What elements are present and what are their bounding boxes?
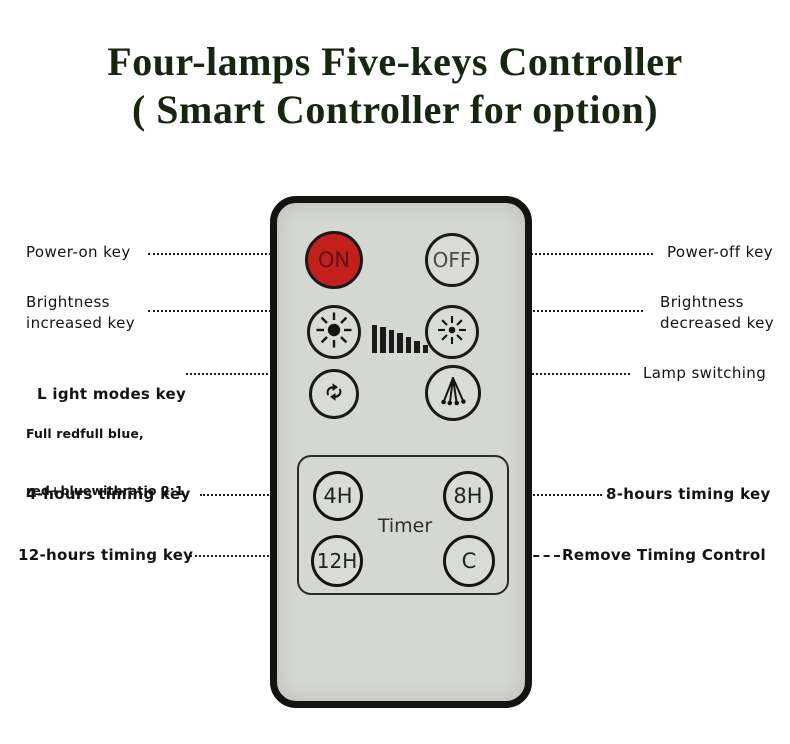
remote-control-body: ON OFF <box>270 196 532 708</box>
callout-line: Brightness <box>660 293 744 311</box>
callout-line: increased key <box>26 314 135 332</box>
signal-bar <box>414 341 419 353</box>
callout-brightness-decreased-key: Brightnessdecreased key <box>660 292 774 334</box>
power-off-label: OFF <box>433 248 472 272</box>
signal-bars-icon <box>372 313 428 353</box>
timer-caption: Timer <box>299 515 511 537</box>
title-line-1: Four-lamps Five-keys Controller <box>0 38 790 86</box>
callout-light-modes-sub-1: Full redfull blue, <box>26 426 186 441</box>
callout-remove-timing-control: Remove Timing Control <box>562 545 766 566</box>
callout-brightness-increased-key: Brightnessincreased key <box>26 292 135 334</box>
callout-4-hours-timing-key: 4-hours timing key <box>26 484 191 505</box>
signal-bar <box>406 337 411 353</box>
page-title: Four-lamps Five-keys Controller ( Smart … <box>0 38 790 134</box>
callout-power-off-key: Power-off key <box>667 242 773 263</box>
brightness-increase-button[interactable] <box>307 305 361 359</box>
callout-lamp-switching: Lamp switching <box>643 363 766 384</box>
signal-bar <box>423 345 428 353</box>
signal-bar <box>380 327 385 353</box>
callout-8-hours-timing-key: 8-hours timing key <box>606 484 771 505</box>
sun-dim-icon <box>434 312 470 352</box>
callout-line: decreased key <box>660 314 774 332</box>
power-off-button[interactable]: OFF <box>425 233 479 287</box>
timer-8h-button[interactable]: 8H <box>443 471 493 521</box>
timer-12h-button[interactable]: 12H <box>311 535 363 587</box>
power-on-button[interactable]: ON <box>305 231 363 289</box>
lamp-rays-icon <box>433 371 473 415</box>
light-modes-button[interactable] <box>309 369 359 419</box>
signal-bar <box>389 330 394 353</box>
lamp-switching-button[interactable] <box>425 365 481 421</box>
callout-light-modes-title: L ight modes key <box>37 385 186 403</box>
timer-4h-button[interactable]: 4H <box>313 471 363 521</box>
timer-clear-button[interactable]: C <box>443 535 495 587</box>
power-on-label: ON <box>318 248 350 272</box>
signal-bar <box>397 333 402 353</box>
brightness-decrease-button[interactable] <box>425 305 479 359</box>
callout-12-hours-timing-key: 12-hours timing key <box>18 545 193 566</box>
timer-panel: 4H 8H 12H C Timer <box>297 455 509 595</box>
title-line-2: ( Smart Controller for option) <box>0 86 790 134</box>
callout-power-on-key: Power-on key <box>26 242 131 263</box>
cycle-arrows-icon <box>319 377 349 411</box>
signal-bar <box>372 325 377 353</box>
callout-line: Brightness <box>26 293 110 311</box>
sun-bright-icon <box>314 310 354 354</box>
